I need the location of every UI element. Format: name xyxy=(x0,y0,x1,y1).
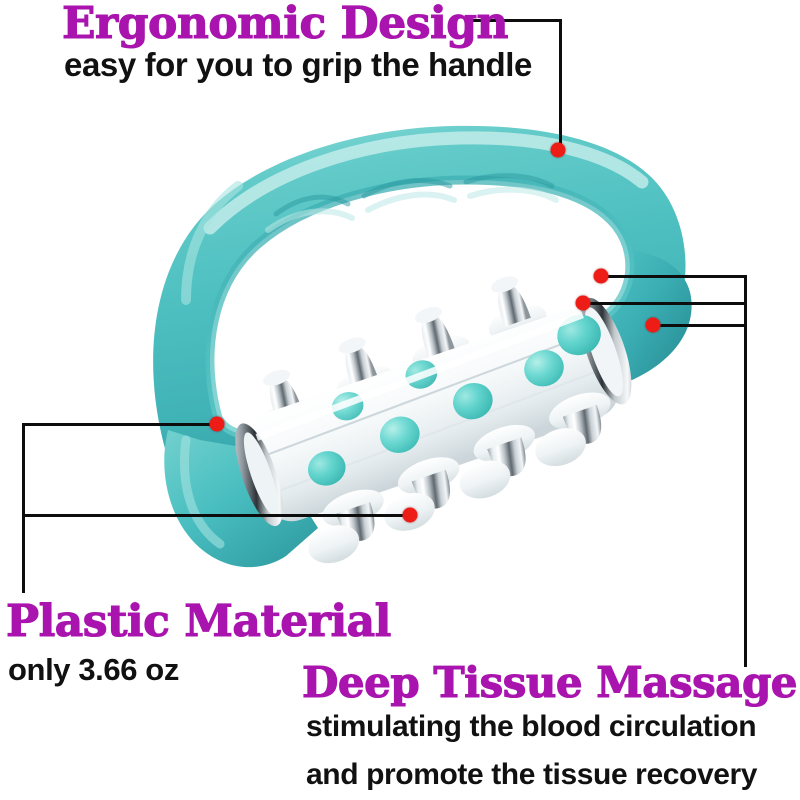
red-dot-marker-deeptissue-3 xyxy=(646,318,661,333)
leader-line-deeptissue-vertical xyxy=(744,275,747,667)
red-dot-marker-deeptissue-2 xyxy=(576,296,591,311)
callout-heading-plastic-material: Plastic Material xyxy=(6,600,391,644)
leader-line-plastic-branch-2 xyxy=(22,514,412,517)
infographic-canvas: Ergonomic Design easy for you to grip th… xyxy=(0,0,800,800)
callout-subtext-deep-tissue-line-2: and promote the tissue recovery xyxy=(306,760,757,790)
callout-subtext-plastic-material: only 3.66 oz xyxy=(8,654,179,685)
leader-line-deeptissue-branch-3 xyxy=(653,324,747,327)
red-dot-marker-plastic-roller xyxy=(403,508,418,523)
leader-line-deeptissue-branch-2 xyxy=(584,302,747,305)
leader-line-deeptissue-branch-1 xyxy=(602,275,747,278)
red-dot-marker-plastic-handle xyxy=(210,417,225,432)
leader-line-plastic-vertical xyxy=(22,423,25,593)
callout-heading-ergonomic-design: Ergonomic Design xyxy=(62,2,508,46)
callout-heading-deep-tissue-massage: Deep Tissue Massage xyxy=(302,662,797,704)
callout-subtext-ergonomic-design: easy for you to grip the handle xyxy=(64,48,532,81)
red-dot-marker-ergonomic xyxy=(551,143,566,158)
callout-subtext-deep-tissue-line-1: stimulating the blood circulation xyxy=(306,712,756,742)
leader-line-plastic-branch-1 xyxy=(22,423,218,426)
leader-line-ergonomic-vertical xyxy=(559,19,562,152)
red-dot-marker-deeptissue-1 xyxy=(594,269,609,284)
